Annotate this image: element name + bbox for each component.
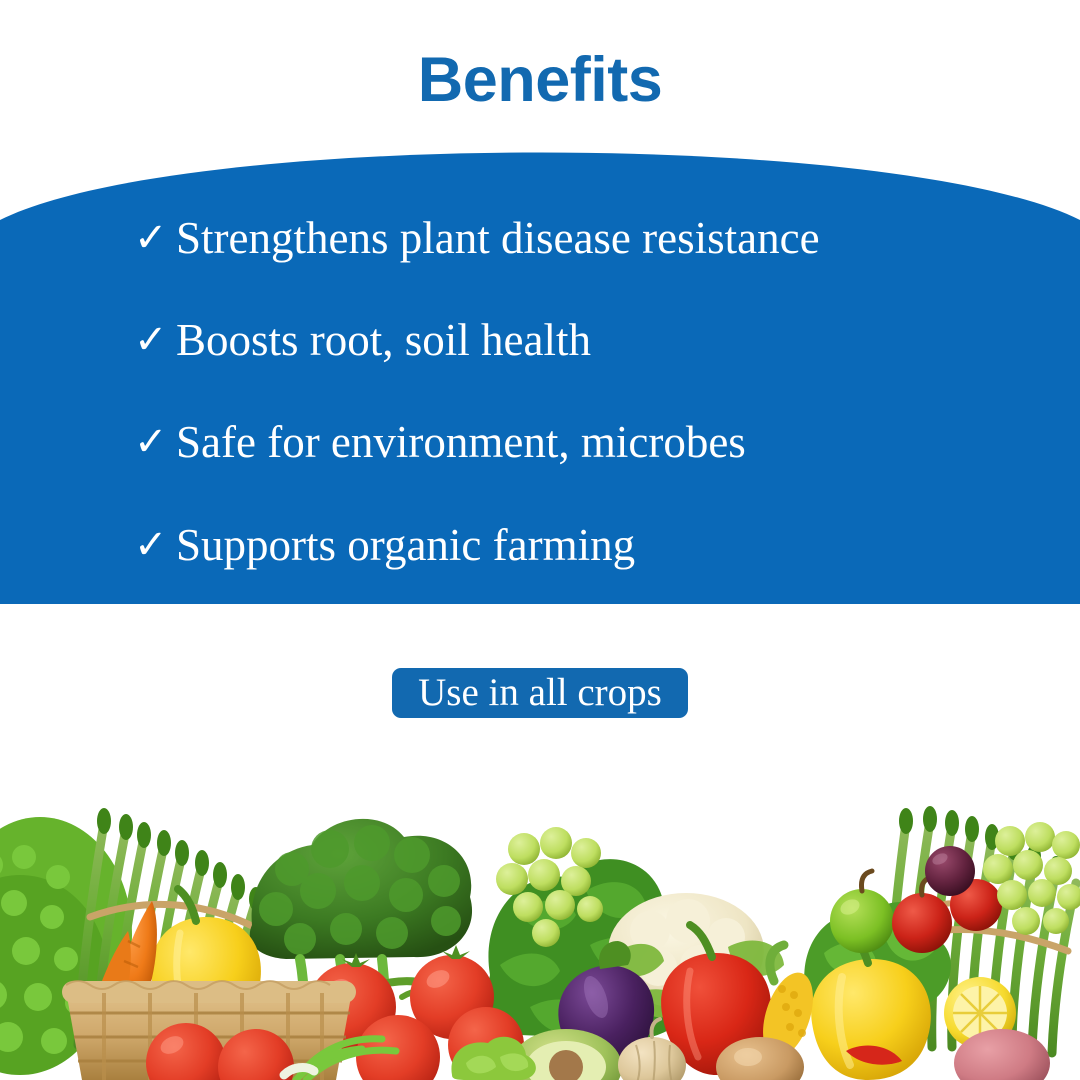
benefit-list: ✓ Strengthens plant disease resistance ✓… (0, 138, 1080, 608)
benefit-item-2: ✓ Boosts root, soil health (134, 312, 591, 368)
check-icon: ✓ (134, 312, 176, 368)
use-in-all-crops-badge: Use in all crops (392, 668, 688, 718)
benefits-panel: ✓ Strengthens plant disease resistance ✓… (0, 138, 1080, 608)
benefit-item-4: ✓ Supports organic farming (134, 517, 635, 573)
check-icon: ✓ (134, 210, 176, 266)
plum (925, 846, 975, 896)
produce-photo (0, 745, 1080, 1080)
benefit-item-3: ✓ Safe for environment, microbes (134, 414, 746, 470)
benefit-label: Safe for environment, microbes (176, 414, 746, 470)
page-title: Benefits (0, 44, 1080, 116)
produce-illustration (0, 745, 1080, 1080)
benefit-item-1: ✓ Strengthens plant disease resistance (134, 210, 820, 266)
benefit-label: Boosts root, soil health (176, 312, 591, 368)
benefit-label: Supports organic farming (176, 517, 635, 573)
check-icon: ✓ (134, 517, 176, 573)
check-icon: ✓ (134, 414, 176, 470)
benefit-label: Strengthens plant disease resistance (176, 210, 820, 266)
benefits-infographic: Benefits ✓ Strengthens plant disease res… (0, 0, 1080, 1080)
